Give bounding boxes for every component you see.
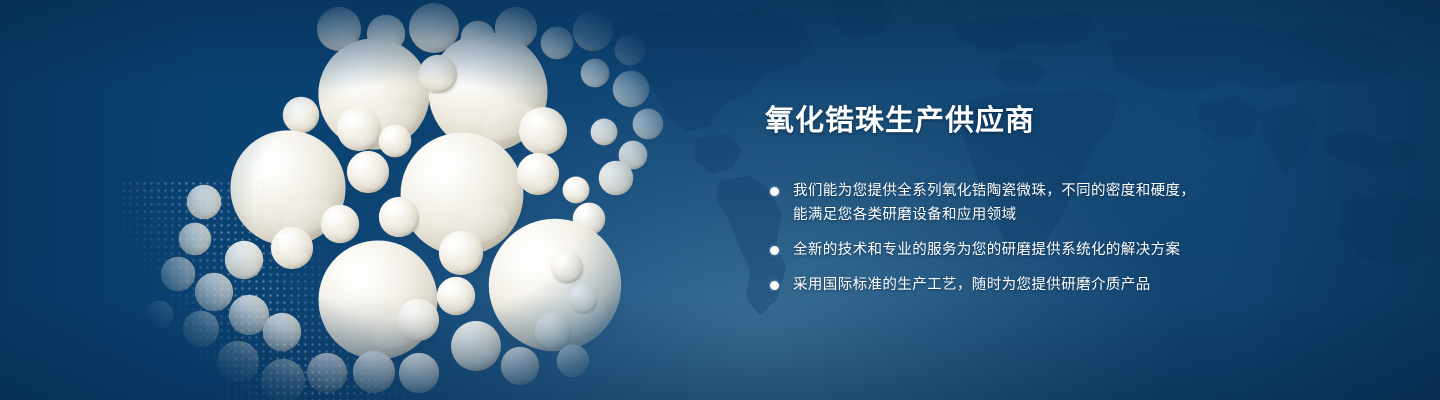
bullet-dot-icon xyxy=(770,187,779,196)
banner-text-block: 氧化锆珠生产供应商 我们能为您提供全系列氧化锆陶瓷微珠，不同的密度和硬度， 能满… xyxy=(765,104,1385,297)
feature-list: 我们能为您提供全系列氧化锆陶瓷微珠，不同的密度和硬度， 能满足您各类研磨设备和应… xyxy=(765,179,1385,297)
list-item-label: 全新的技术和专业的服务为您的研磨提供系统化的解决方案 xyxy=(793,238,1385,262)
page-title: 氧化锆珠生产供应商 xyxy=(765,104,1385,139)
list-item-label: 采用国际标准的生产工艺，随时为您提供研磨介质产品 xyxy=(793,273,1385,297)
list-item: 采用国际标准的生产工艺，随时为您提供研磨介质产品 xyxy=(765,273,1385,297)
list-item: 全新的技术和专业的服务为您的研磨提供系统化的解决方案 xyxy=(765,238,1385,262)
list-item-label: 我们能为您提供全系列氧化锆陶瓷微珠，不同的密度和硬度， xyxy=(793,179,1385,203)
bullet-dot-icon xyxy=(770,246,779,255)
bullet-dot-icon xyxy=(770,281,779,290)
hero-banner: 氧化锆珠生产供应商 我们能为您提供全系列氧化锆陶瓷微珠，不同的密度和硬度， 能满… xyxy=(0,0,1440,400)
list-item: 我们能为您提供全系列氧化锆陶瓷微珠，不同的密度和硬度， 能满足您各类研磨设备和应… xyxy=(765,179,1385,227)
list-item-label-cont: 能满足您各类研磨设备和应用领域 xyxy=(793,203,1385,227)
